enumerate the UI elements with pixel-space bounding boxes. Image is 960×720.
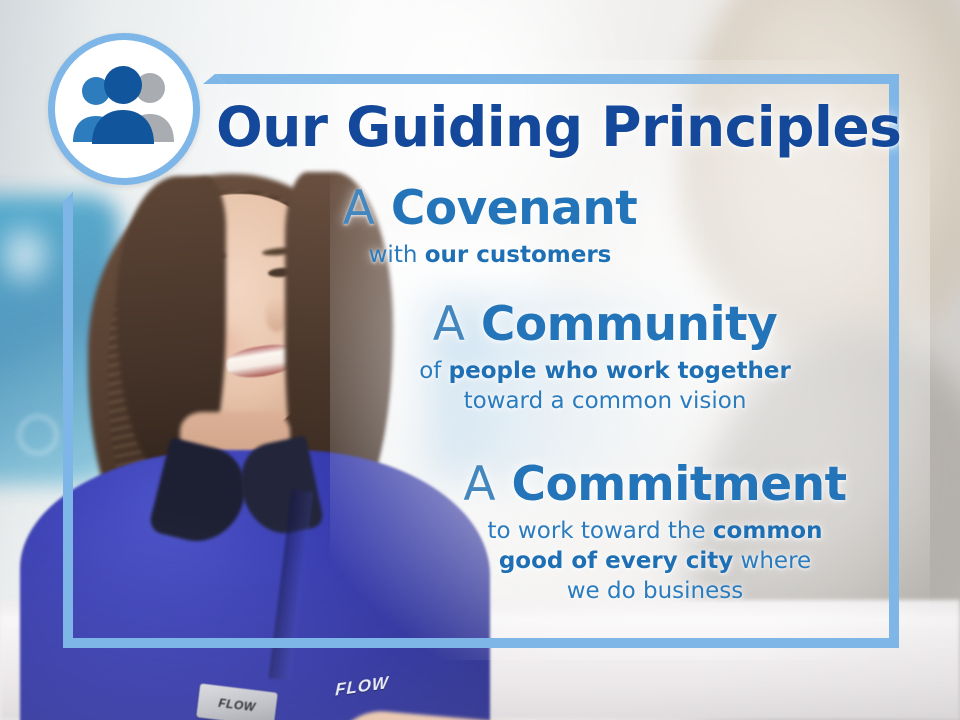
principle-community-word: Community [481, 297, 777, 352]
subtext-emphasis: good of every city [499, 548, 733, 574]
subtext-line: of people who work together [370, 356, 840, 386]
principle-covenant-word: Covenant [391, 181, 637, 236]
nametag-brand-text: FLOW [218, 696, 257, 714]
subtext-run: toward a common vision [464, 388, 747, 414]
guiding-principles-graphic: FLOW FLOW [0, 0, 960, 720]
principle-community-title: A Community [370, 298, 840, 352]
principle-commitment-word: Commitment [512, 457, 847, 512]
subtext-run: we do business [567, 578, 744, 604]
subtext-line: to work toward the common [430, 516, 880, 546]
principle-covenant-article: A [343, 181, 376, 236]
principle-commitment: A Commitment to work toward the commongo… [430, 458, 880, 606]
subtext-run: to work toward the [488, 518, 713, 544]
subtext-line: toward a common vision [370, 386, 840, 416]
subtext-line: good of every city where [430, 546, 880, 576]
people-group-icon [68, 66, 180, 152]
principle-community-subtext: of people who work togethertoward a comm… [370, 356, 840, 416]
principle-commitment-article: A [463, 457, 496, 512]
principle-covenant: A Covenant with our customers [300, 182, 680, 270]
subtext-emphasis: people who work together [449, 358, 791, 384]
principle-covenant-subtext: with our customers [300, 240, 680, 270]
principle-commitment-subtext: to work toward the commongood of every c… [430, 516, 880, 606]
principle-commitment-title: A Commitment [430, 458, 880, 512]
subtext-emphasis: common [713, 518, 823, 544]
people-badge [48, 33, 200, 185]
subtext-emphasis: our customers [425, 242, 612, 268]
subtext-run: where [733, 548, 811, 574]
principle-community: A Community of people who work togethert… [370, 298, 840, 416]
subtext-run: with [369, 242, 425, 268]
principle-community-article: A [433, 297, 466, 352]
page-title: Our Guiding Principles [216, 96, 876, 158]
subtext-run: of [419, 358, 448, 384]
subtext-line: with our customers [300, 240, 680, 270]
principle-covenant-title: A Covenant [300, 182, 680, 236]
subtext-line: we do business [430, 576, 880, 606]
